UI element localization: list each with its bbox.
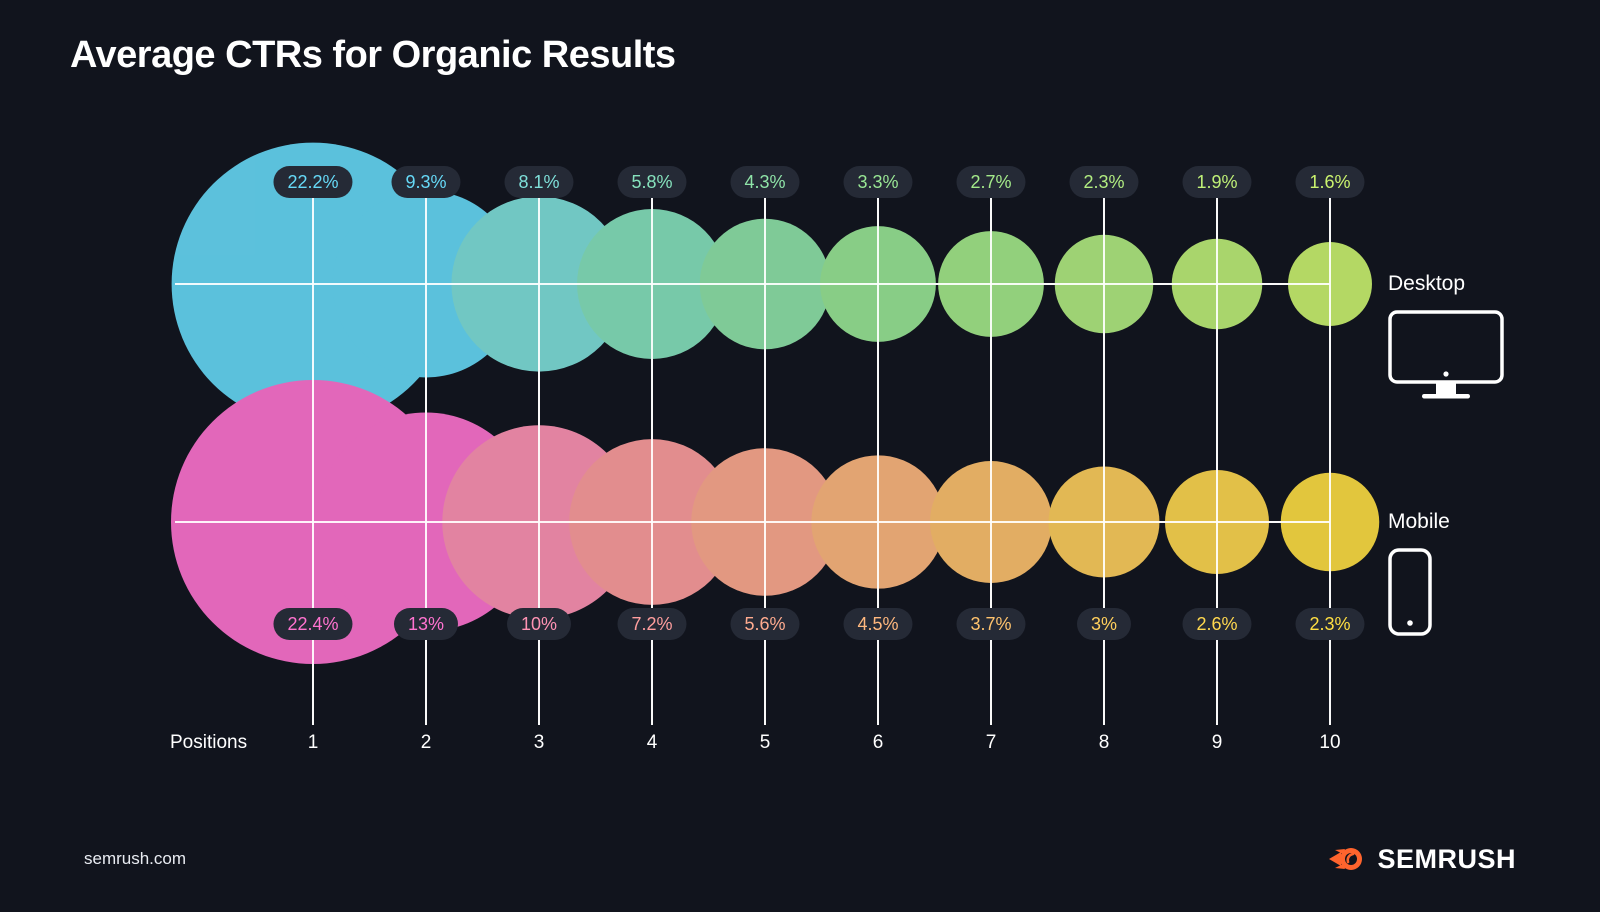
desktop-monitor-icon (1388, 310, 1504, 402)
value-label-mobile-position-9[interactable]: 2.6% (1182, 608, 1251, 640)
mobile-phone-icon (1388, 548, 1432, 636)
x-axis-tick-9: 9 (1212, 732, 1223, 754)
x-axis-tick-4: 4 (647, 732, 658, 754)
brand-logo: SEMRUSH (1327, 843, 1516, 875)
value-label-desktop-position-7[interactable]: 2.7% (956, 166, 1025, 198)
x-axis-tick-5: 5 (760, 732, 771, 754)
brand-name: SEMRUSH (1377, 844, 1516, 875)
value-label-desktop-position-10[interactable]: 1.6% (1295, 166, 1364, 198)
bubble-layer (171, 143, 1379, 664)
value-label-desktop-position-8[interactable]: 2.3% (1069, 166, 1138, 198)
x-axis-tick-1: 1 (308, 732, 319, 754)
footer-url: semrush.com (84, 849, 186, 869)
x-axis-tick-10: 10 (1319, 732, 1340, 754)
x-axis-tick-3: 3 (534, 732, 545, 754)
value-label-desktop-position-9[interactable]: 1.9% (1182, 166, 1251, 198)
x-axis-tick-8: 8 (1099, 732, 1110, 754)
value-label-desktop-position-1[interactable]: 22.2% (273, 166, 352, 198)
value-label-mobile-position-10[interactable]: 2.3% (1295, 608, 1364, 640)
legend-label-mobile: Mobile (1388, 510, 1450, 534)
x-axis-title: Positions (170, 732, 247, 754)
x-axis-tick-2: 2 (421, 732, 432, 754)
semrush-comet-icon (1327, 843, 1367, 875)
value-label-desktop-position-5[interactable]: 4.3% (730, 166, 799, 198)
value-label-desktop-position-3[interactable]: 8.1% (504, 166, 573, 198)
legend-label-desktop: Desktop (1388, 272, 1504, 296)
x-axis-tick-6: 6 (873, 732, 884, 754)
legend-item-mobile: Mobile (1388, 510, 1450, 641)
legend-item-desktop: Desktop (1388, 272, 1504, 407)
bubble-chart (0, 0, 1600, 912)
value-label-mobile-position-8[interactable]: 3% (1077, 608, 1131, 640)
value-label-desktop-position-2[interactable]: 9.3% (391, 166, 460, 198)
infographic-canvas: Average CTRs for Organic Results Positio… (0, 0, 1600, 912)
value-label-desktop-position-6[interactable]: 3.3% (843, 166, 912, 198)
value-label-mobile-position-5[interactable]: 5.6% (730, 608, 799, 640)
value-label-mobile-position-6[interactable]: 4.5% (843, 608, 912, 640)
value-label-mobile-position-7[interactable]: 3.7% (956, 608, 1025, 640)
x-axis-tick-7: 7 (986, 732, 997, 754)
value-label-mobile-position-1[interactable]: 22.4% (273, 608, 352, 640)
value-label-mobile-position-4[interactable]: 7.2% (617, 608, 686, 640)
value-label-mobile-position-2[interactable]: 13% (394, 608, 458, 640)
value-label-desktop-position-4[interactable]: 5.8% (617, 166, 686, 198)
value-label-mobile-position-3[interactable]: 10% (507, 608, 571, 640)
